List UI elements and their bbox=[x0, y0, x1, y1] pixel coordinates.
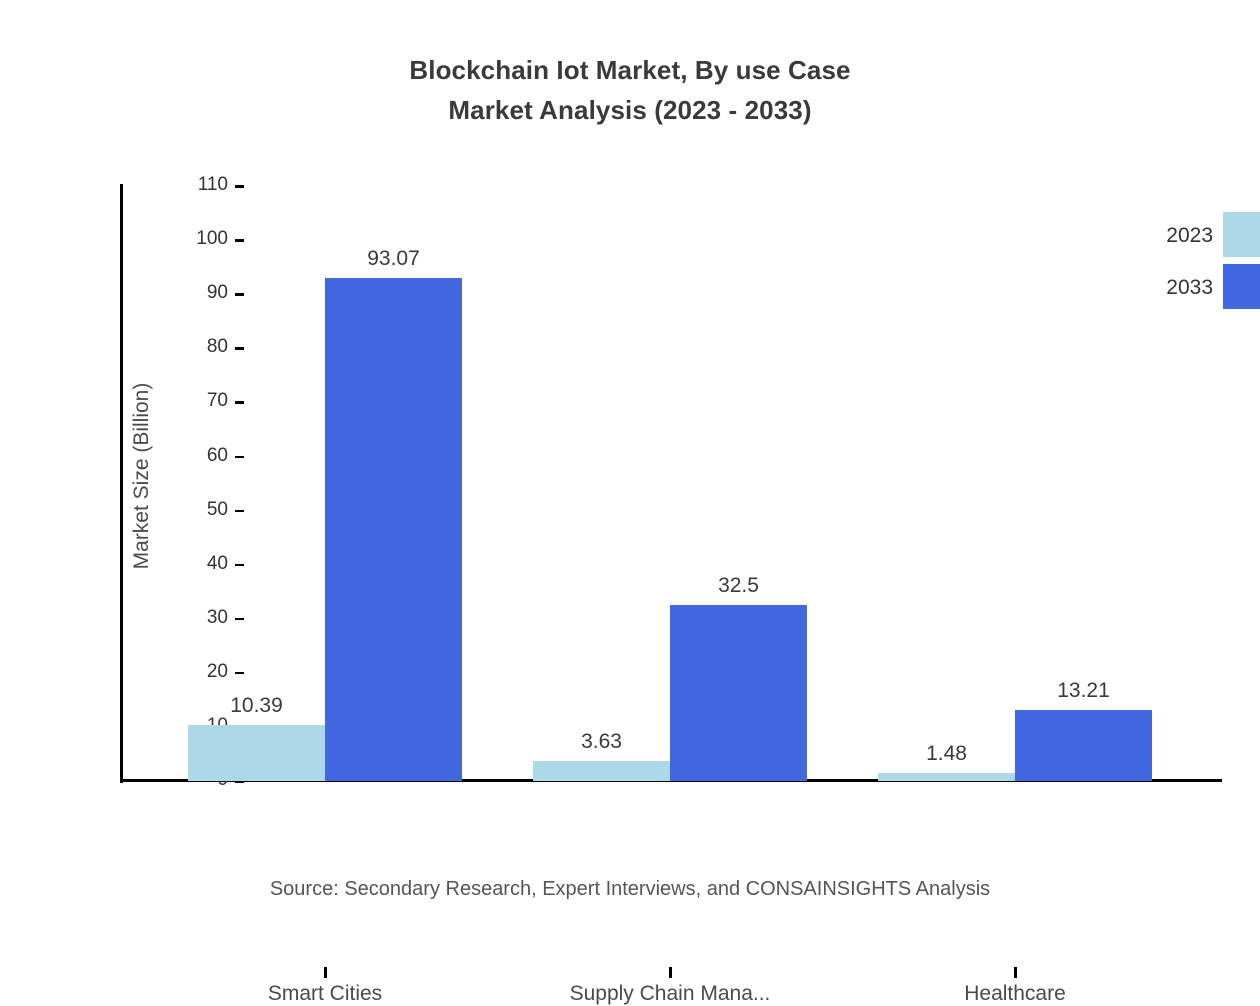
y-tick-label-90: 90 bbox=[207, 282, 228, 304]
chart-title: Blockchain Iot Market, By use Case Marke… bbox=[0, 50, 1260, 130]
y-axis-title: Market Size (Billion) bbox=[130, 216, 154, 736]
bar-value-label: 10.39 bbox=[230, 694, 283, 718]
plot-area: Market Size (Billion) 0 10 20 30 40 50 6… bbox=[122, 186, 1222, 781]
y-tick-label-60: 60 bbox=[207, 445, 228, 467]
legend-item-2023[interactable]: 2023 bbox=[1100, 212, 1260, 264]
y-tick-label-70: 70 bbox=[207, 390, 228, 412]
y-tick-label-30: 30 bbox=[207, 607, 228, 629]
legend-item-2033[interactable]: 2033 bbox=[1100, 264, 1260, 316]
y-tick-label-100: 100 bbox=[196, 228, 228, 250]
y-tick-mark-20 bbox=[235, 672, 244, 675]
y-tick-mark-70 bbox=[235, 401, 244, 404]
y-tick-mark-100 bbox=[235, 239, 244, 242]
bar-value-label: 1.48 bbox=[926, 742, 967, 766]
x-tick-mark bbox=[669, 967, 672, 978]
bar-value-label: 32.5 bbox=[718, 574, 759, 598]
legend-swatch-2023 bbox=[1223, 212, 1260, 257]
legend-label-2033: 2033 bbox=[1166, 276, 1213, 300]
legend-swatch-2033 bbox=[1223, 264, 1260, 309]
x-tick-mark bbox=[324, 967, 327, 978]
y-tick-mark-110 bbox=[235, 185, 244, 188]
bar-2033-supply-chain-management[interactable]: 32.5 bbox=[670, 605, 807, 781]
bar-2033-healthcare[interactable]: 13.21 bbox=[1015, 710, 1152, 781]
bar-2023-supply-chain-management[interactable]: 3.63 bbox=[533, 761, 670, 781]
y-tick-mark-30 bbox=[235, 618, 244, 621]
y-tick-mark-80 bbox=[235, 347, 244, 350]
y-tick-label-80: 80 bbox=[207, 336, 228, 358]
chart-legend: 2023 2033 bbox=[1100, 212, 1260, 316]
y-tick-mark-90 bbox=[235, 293, 244, 296]
source-note: Source: Secondary Research, Expert Inter… bbox=[0, 878, 1260, 901]
legend-label-2023: 2023 bbox=[1166, 224, 1213, 248]
bar-value-label: 93.07 bbox=[367, 247, 420, 271]
y-tick-label-110: 110 bbox=[198, 174, 228, 196]
bar-2023-healthcare[interactable]: 1.48 bbox=[878, 773, 1015, 781]
y-tick-label-40: 40 bbox=[207, 553, 228, 575]
bar-value-label: 3.63 bbox=[581, 730, 622, 754]
bar-2033-smart-cities[interactable]: 93.07 bbox=[325, 278, 462, 781]
y-tick-label-20: 20 bbox=[207, 661, 228, 683]
y-tick-label-50: 50 bbox=[207, 499, 228, 521]
chart-title-line1: Blockchain Iot Market, By use Case bbox=[409, 55, 850, 85]
y-tick-mark-40 bbox=[235, 564, 244, 567]
x-tick-mark bbox=[1014, 967, 1017, 978]
y-tick-mark-60 bbox=[235, 456, 244, 459]
x-tick-label-supply-chain-management: Supply Chain Mana... bbox=[500, 982, 840, 1006]
x-tick-label-healthcare: Healthcare bbox=[845, 982, 1185, 1006]
chart-title-line2: Market Analysis (2023 - 2033) bbox=[0, 90, 1260, 130]
bar-chart-figure: Blockchain Iot Market, By use Case Marke… bbox=[0, 0, 1260, 920]
y-tick-mark-50 bbox=[235, 510, 244, 513]
bar-value-label: 13.21 bbox=[1057, 679, 1110, 703]
x-tick-label-smart-cities: Smart Cities bbox=[155, 982, 495, 1006]
bar-2023-smart-cities[interactable]: 10.39 bbox=[188, 725, 325, 781]
